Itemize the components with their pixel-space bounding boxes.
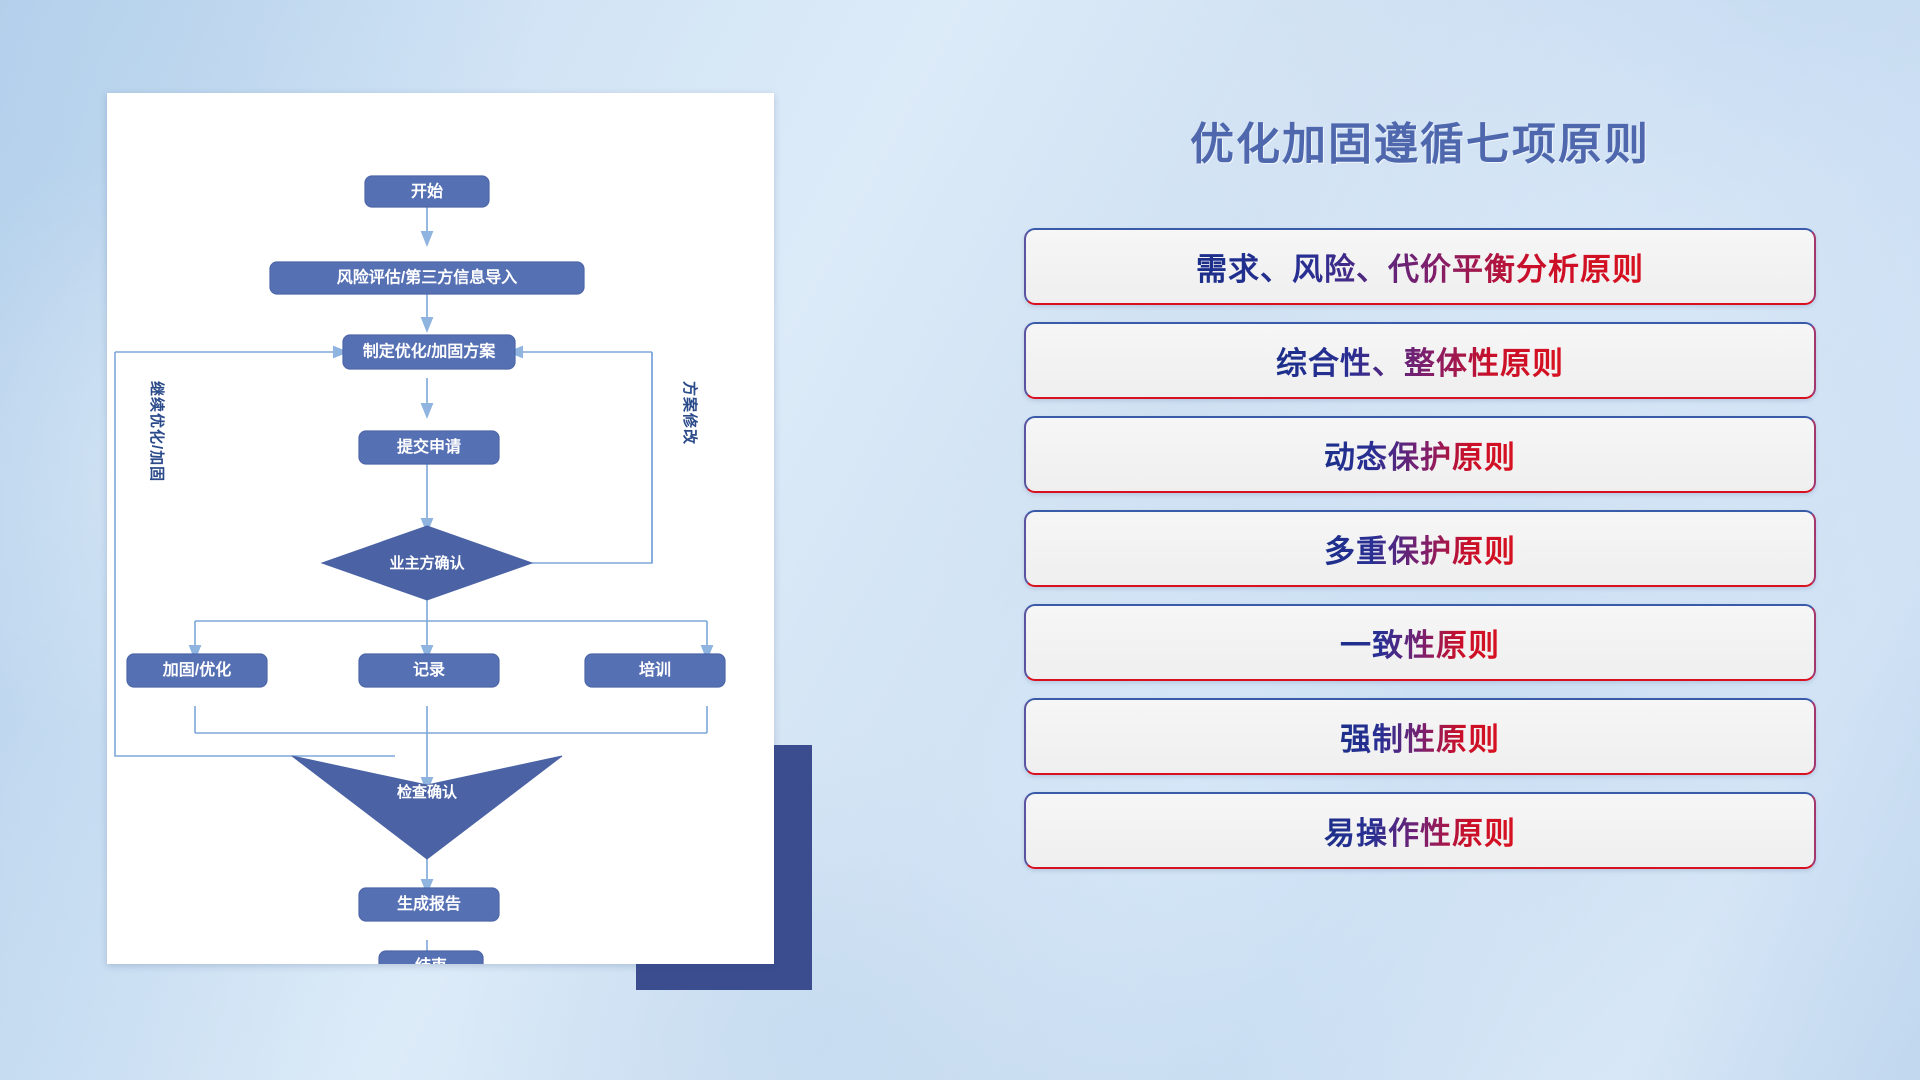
principle-label: 易操作性原则 bbox=[1324, 808, 1516, 853]
flow-node-training: 培训 bbox=[585, 654, 725, 687]
flowchart-card: 开始 风险评估/第三方信息导入 制定优化/加固方案 提交申请 业主方确认 bbox=[107, 93, 774, 964]
flow-node-owner-confirm-label: 业主方确认 bbox=[389, 554, 465, 572]
list-item[interactable]: 动态保护原则 bbox=[1024, 416, 1816, 493]
flow-node-start: 开始 bbox=[365, 176, 489, 207]
flow-node-reinforce: 加固/优化 bbox=[127, 654, 267, 687]
flow-edge-label-plan-revision: 方案修改 bbox=[681, 381, 699, 445]
list-item[interactable]: 一致性原则 bbox=[1024, 604, 1816, 681]
flow-node-end: 结束 bbox=[379, 951, 483, 964]
flow-node-submit-label: 提交申请 bbox=[397, 437, 461, 456]
flow-node-plan: 制定优化/加固方案 bbox=[343, 335, 515, 369]
page-title: 优化加固遵循七项原则 bbox=[1000, 108, 1840, 172]
flow-node-end-label: 结束 bbox=[414, 956, 448, 964]
flow-node-record-label: 记录 bbox=[413, 661, 445, 679]
principles-panel: 优化加固遵循七项原则 需求、风险、代价平衡分析原则 综合性、整体性原则 动态保护… bbox=[1000, 80, 1840, 1020]
list-item[interactable]: 多重保护原则 bbox=[1024, 510, 1816, 587]
flow-edge-label-continue-optimize: 继续优化/加固 bbox=[148, 381, 166, 482]
flow-node-report: 生成报告 bbox=[359, 888, 499, 921]
list-item[interactable]: 易操作性原则 bbox=[1024, 792, 1816, 869]
list-item[interactable]: 综合性、整体性原则 bbox=[1024, 322, 1816, 399]
flow-node-report-label: 生成报告 bbox=[397, 894, 461, 913]
slide-canvas: 开始 风险评估/第三方信息导入 制定优化/加固方案 提交申请 业主方确认 bbox=[0, 0, 1920, 1080]
flowchart-diagram: 开始 风险评估/第三方信息导入 制定优化/加固方案 提交申请 业主方确认 bbox=[107, 93, 774, 964]
flow-node-owner-confirm: 业主方确认 bbox=[322, 526, 532, 600]
flow-node-risk-assessment: 风险评估/第三方信息导入 bbox=[270, 262, 584, 294]
flow-node-plan-label: 制定优化/加固方案 bbox=[363, 342, 496, 361]
principle-label: 一致性原则 bbox=[1340, 620, 1500, 665]
flow-node-risk-assessment-label: 风险评估/第三方信息导入 bbox=[337, 268, 517, 287]
list-item[interactable]: 需求、风险、代价平衡分析原则 bbox=[1024, 228, 1816, 305]
flow-node-start-label: 开始 bbox=[411, 182, 443, 201]
principle-label: 动态保护原则 bbox=[1324, 432, 1516, 477]
flow-node-reinforce-label: 加固/优化 bbox=[162, 660, 231, 679]
principle-label: 强制性原则 bbox=[1340, 714, 1500, 759]
principles-list: 需求、风险、代价平衡分析原则 综合性、整体性原则 动态保护原则 多重保护原则 一… bbox=[1024, 228, 1816, 886]
principle-label: 需求、风险、代价平衡分析原则 bbox=[1196, 244, 1644, 289]
principle-label: 综合性、整体性原则 bbox=[1276, 338, 1564, 383]
flow-node-record: 记录 bbox=[359, 654, 499, 687]
flow-node-submit: 提交申请 bbox=[359, 431, 499, 464]
principle-label: 多重保护原则 bbox=[1324, 526, 1516, 571]
flow-node-check-confirm-label: 检查确认 bbox=[397, 783, 458, 801]
flow-node-training-label: 培训 bbox=[639, 660, 671, 679]
list-item[interactable]: 强制性原则 bbox=[1024, 698, 1816, 775]
